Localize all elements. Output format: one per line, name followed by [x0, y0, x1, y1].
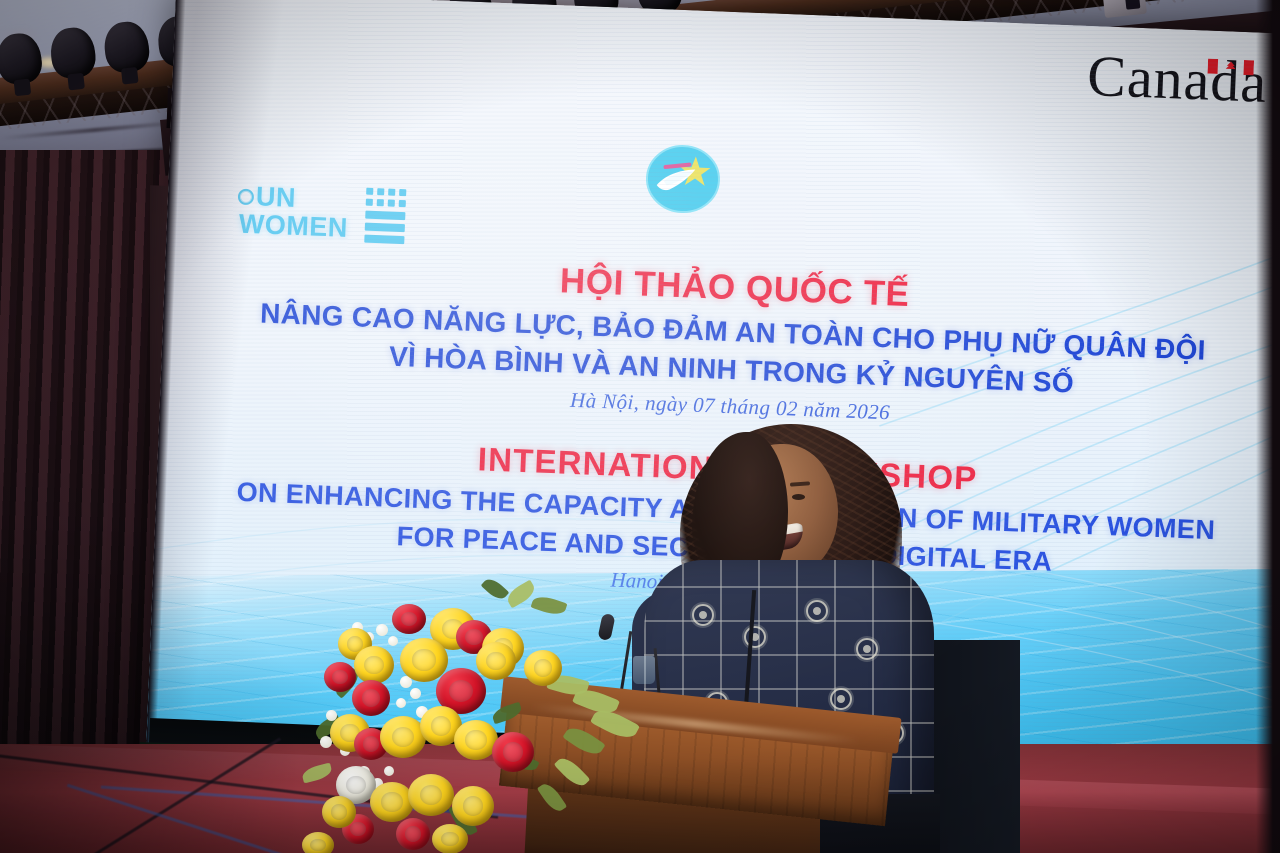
leaf	[491, 702, 524, 725]
babys-breath	[410, 688, 421, 699]
un-women-line2: WOMEN	[238, 211, 348, 242]
rose-yellow	[380, 716, 426, 758]
leaf	[531, 593, 568, 618]
flower-arrangement	[296, 580, 656, 853]
un-globe-icon	[238, 189, 255, 206]
rose-red	[392, 604, 426, 634]
babys-breath	[388, 636, 398, 646]
leaf	[481, 575, 510, 603]
stage-photo-scene: UN WOMEN	[0, 0, 1280, 853]
babys-breath	[396, 698, 406, 708]
rose-red	[324, 662, 356, 692]
rose-red	[352, 680, 390, 716]
rose-yellow	[524, 650, 562, 686]
canada-wordmark-logo: Canada	[976, 40, 1269, 131]
dove-star-emblem-icon	[635, 138, 730, 220]
rose-yellow	[322, 796, 356, 828]
rose-yellow	[354, 646, 394, 684]
un-women-line1: UN	[255, 183, 296, 212]
side-wall-right	[1256, 0, 1280, 853]
rose-yellow	[432, 824, 468, 853]
babys-breath	[384, 766, 394, 776]
canada-wordmark-text: Canada	[976, 40, 1268, 115]
leaf	[301, 763, 333, 784]
jacket-motif	[806, 600, 828, 622]
rose-yellow	[408, 774, 454, 816]
jacket-motif	[856, 638, 878, 660]
rose-yellow	[476, 642, 516, 680]
canada-flag-icon	[1208, 59, 1255, 76]
leaf	[537, 780, 567, 815]
rose-yellow	[302, 832, 334, 853]
rose-yellow	[452, 786, 494, 826]
jacket-motif	[692, 604, 714, 626]
stage-light	[48, 26, 97, 80]
stage-light	[102, 20, 151, 74]
leaf	[554, 753, 591, 790]
truss-equipment-box	[1101, 0, 1147, 18]
babys-breath	[376, 624, 388, 636]
rose-yellow	[370, 782, 414, 822]
rose-red	[492, 732, 534, 772]
speaker-eye	[792, 494, 805, 500]
rose-red	[396, 818, 430, 850]
leaf	[562, 722, 605, 759]
un-women-grid-icon	[362, 188, 430, 249]
